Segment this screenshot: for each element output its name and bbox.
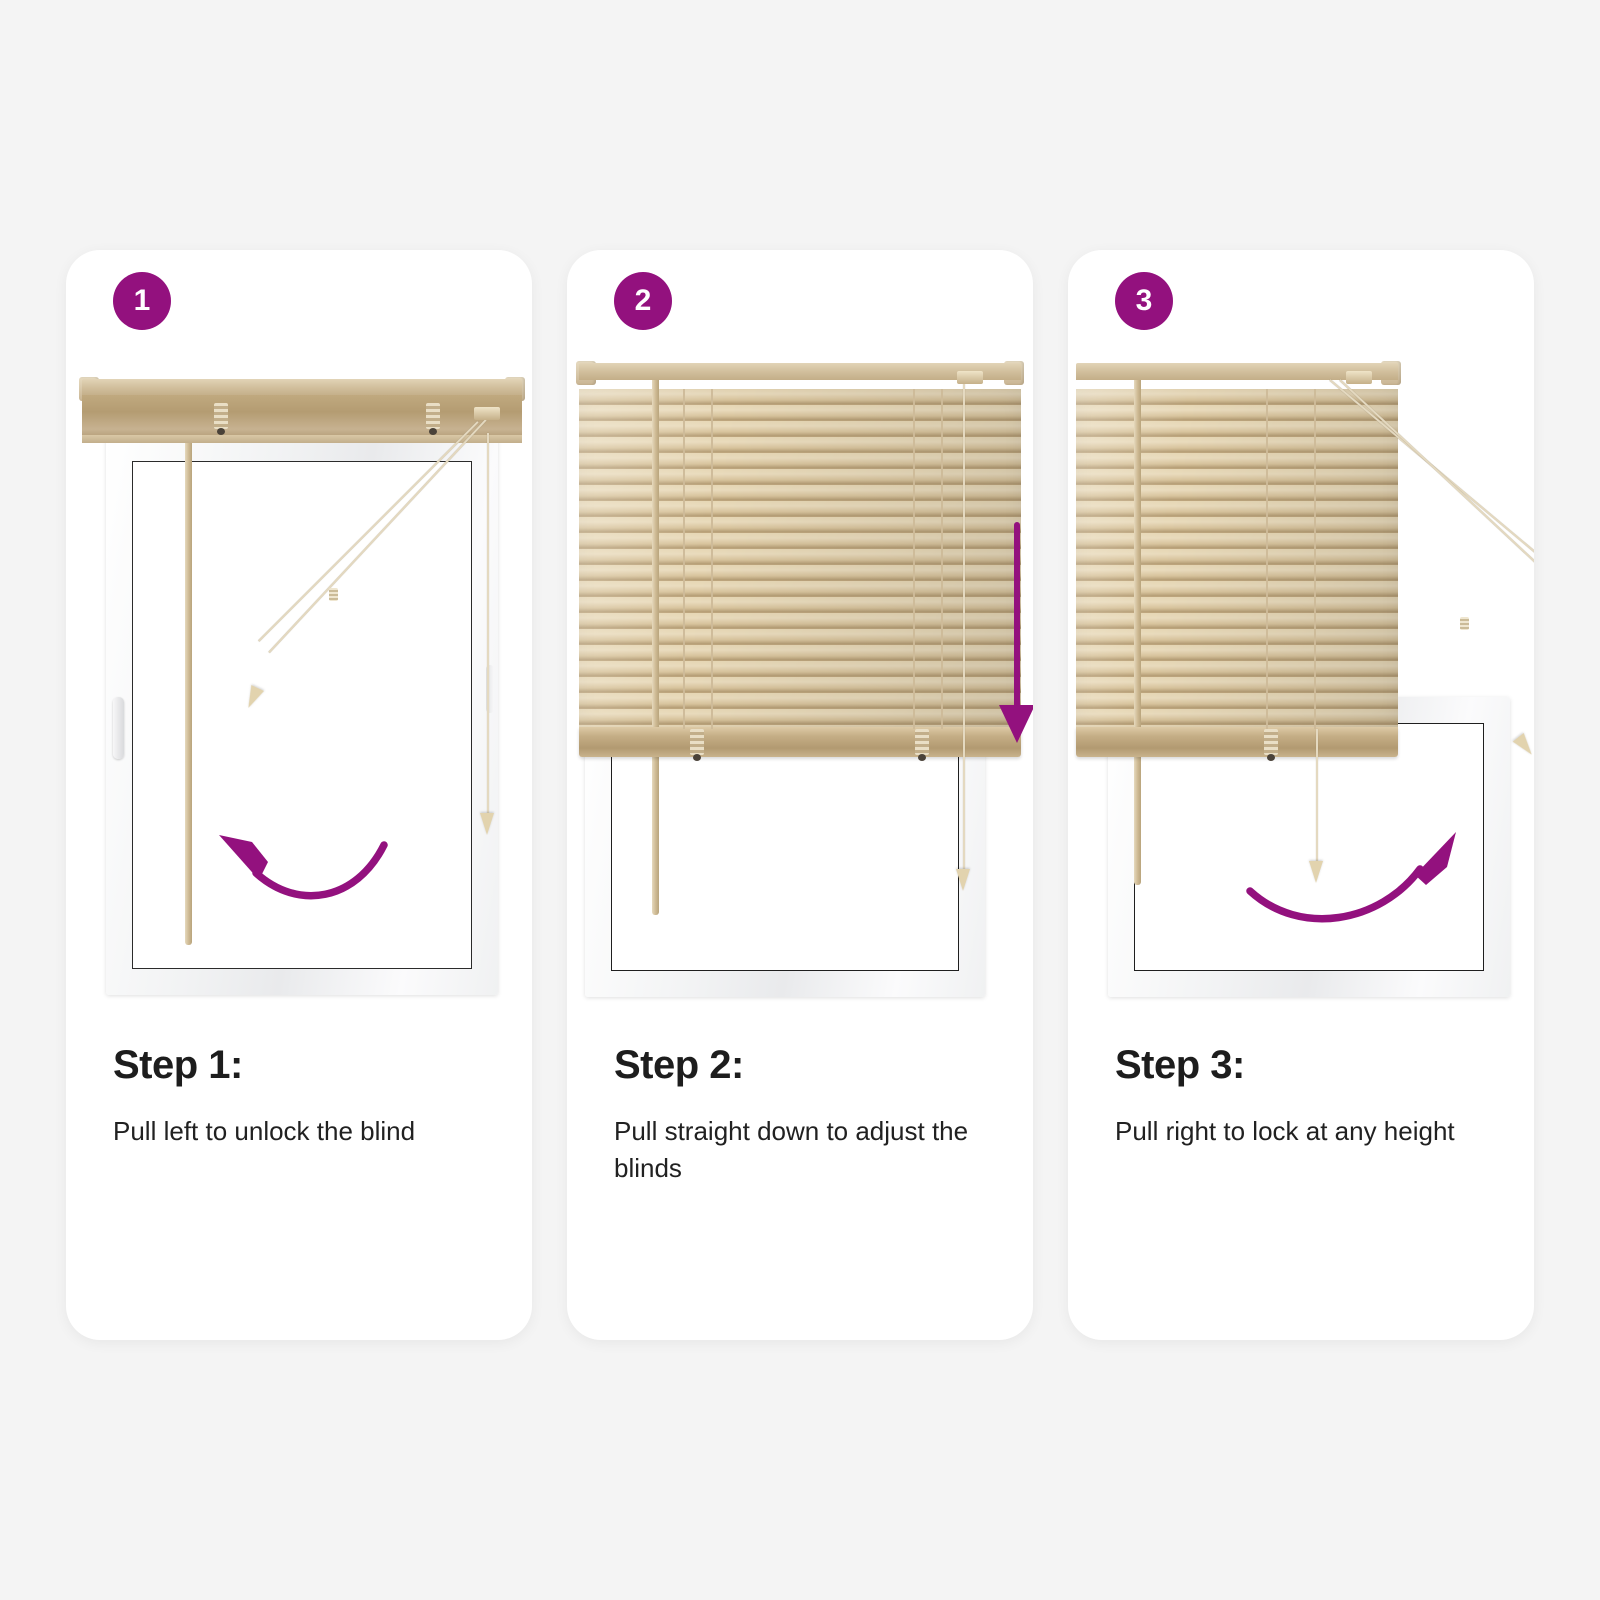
illustration-step-3: [1068, 345, 1534, 1005]
blind-headrail: [82, 379, 522, 443]
slat-shading: [1076, 389, 1398, 729]
step-card-1: 1: [66, 250, 532, 1340]
step-card-2: 2: [567, 250, 1033, 1340]
step-text-1: Step 1: Pull left to unlock the blind: [113, 1045, 493, 1150]
ladder-cord: [941, 389, 943, 729]
blind-bottom-rail: [579, 727, 1021, 757]
illustration-step-2: [567, 345, 1033, 1005]
step-badge-1: 1: [113, 272, 171, 330]
blind-headrail: [579, 363, 1021, 393]
window-glass: [611, 723, 959, 971]
ladder-clip: [214, 403, 228, 429]
window-handle-icon: [113, 697, 124, 759]
pulled-cord-tassel[interactable]: [1513, 733, 1534, 759]
cord-tassel[interactable]: [956, 869, 970, 891]
step-description: Pull straight down to adjust the blinds: [614, 1113, 994, 1187]
step-title: Step 1:: [113, 1045, 493, 1085]
cord-bead: [1460, 617, 1469, 630]
step-card-3: 3: [1068, 250, 1534, 1340]
step-description: Pull right to lock at any height: [1115, 1113, 1495, 1150]
window-glass: [1134, 723, 1484, 971]
headrail-top: [82, 379, 522, 396]
ladder-cord: [1314, 389, 1316, 729]
cord-bead: [329, 588, 338, 601]
step-badge-3: 3: [1115, 272, 1173, 330]
lift-cord[interactable]: [963, 381, 965, 873]
cord-tassel[interactable]: [1309, 861, 1323, 883]
step-text-2: Step 2: Pull straight down to adjust the…: [614, 1045, 994, 1187]
cord-lock: [1346, 371, 1372, 384]
ladder-cord: [711, 389, 713, 729]
window-frame: [106, 435, 498, 995]
steps-board: 1: [0, 0, 1600, 1600]
ladder-clip: [915, 729, 929, 755]
ladder-clip: [426, 403, 440, 429]
headrail-top: [579, 363, 1021, 380]
step-description: Pull left to unlock the blind: [113, 1113, 493, 1150]
illustration-step-1: [66, 345, 532, 1005]
tilt-wand[interactable]: [652, 375, 659, 915]
step-badge-2: 2: [614, 272, 672, 330]
step-text-3: Step 3: Pull right to lock at any height: [1115, 1045, 1495, 1150]
headrail-body: [82, 395, 522, 437]
window-glass: [132, 461, 472, 969]
ladder-clip: [1264, 729, 1278, 755]
ladder-cord: [1266, 389, 1268, 729]
slat-shading: [579, 389, 1021, 729]
step-title: Step 2:: [614, 1045, 994, 1085]
tilt-wand[interactable]: [185, 405, 192, 945]
blind-bottom-rail: [1076, 727, 1398, 757]
lift-cord[interactable]: [487, 433, 489, 817]
lift-cord[interactable]: [1316, 729, 1318, 865]
cord-lock: [957, 371, 983, 384]
cord-tassel[interactable]: [480, 813, 494, 835]
blind-slats: [579, 389, 1021, 729]
ladder-cord: [913, 389, 915, 729]
step-title: Step 3:: [1115, 1045, 1495, 1085]
ladder-cord: [683, 389, 685, 729]
tilt-wand[interactable]: [1134, 375, 1141, 885]
blind-slats: [1076, 389, 1398, 729]
ladder-clip: [690, 729, 704, 755]
cord-lock: [474, 407, 500, 420]
